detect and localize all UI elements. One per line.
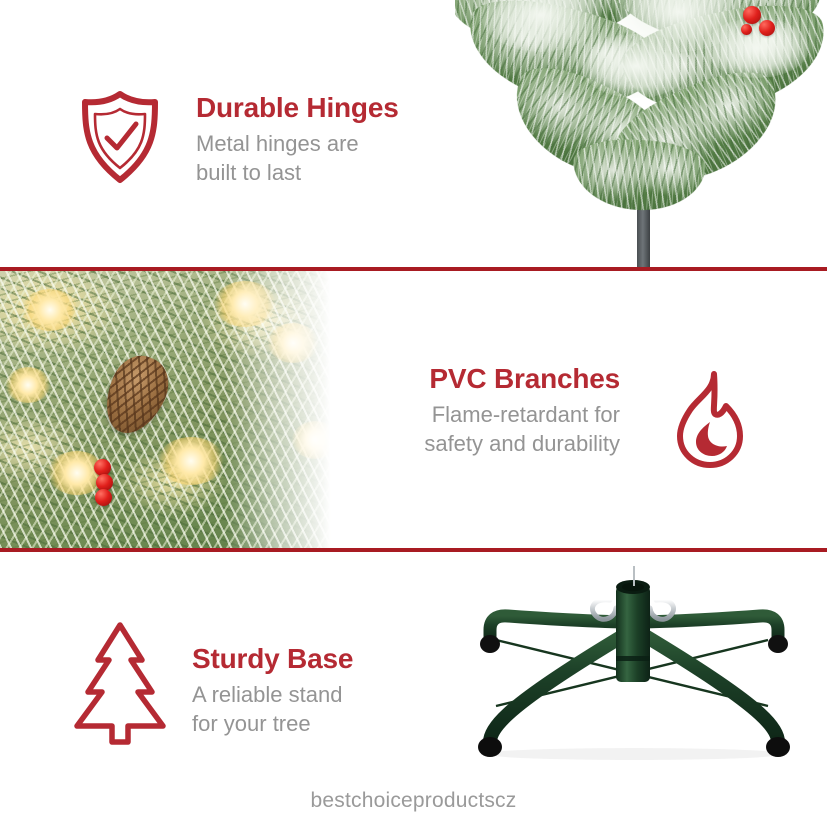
feature-description: Flame-retardant for safety and durabilit…: [424, 400, 620, 458]
lit-flocked-branches-photo: [0, 271, 345, 548]
feature-text-sturdy-base: Sturdy Base A reliable stand for your tr…: [192, 643, 353, 738]
pinecone: [94, 347, 178, 443]
stand-leg: [490, 634, 626, 742]
snow-frost: [705, 18, 809, 78]
red-berry: [741, 24, 752, 35]
stand-leg: [642, 634, 778, 742]
tree-light: [22, 289, 78, 331]
feature-description: A reliable stand for your tree: [192, 680, 353, 738]
stand-foot: [480, 635, 500, 653]
product-feature-infographic: Durable Hinges Metal hinges are built to…: [0, 0, 827, 827]
brand-footer: bestchoiceproductscz: [0, 789, 827, 813]
stand-center-post: [616, 586, 650, 682]
flame-icon: [664, 368, 756, 470]
red-berry: [743, 6, 761, 24]
feature-panel-durable-hinges: Durable Hinges Metal hinges are built to…: [0, 0, 827, 267]
flocked-tree-top-photo: [455, 0, 827, 267]
pine-tree-icon: [66, 618, 174, 750]
tree-light: [158, 437, 224, 485]
feature-description: Metal hinges are built to last: [196, 129, 399, 187]
feature-title: PVC Branches: [424, 363, 620, 395]
feature-text-durable-hinges: Durable Hinges Metal hinges are built to…: [196, 92, 399, 187]
tree-stand-photo: [438, 556, 827, 761]
tree-light: [6, 367, 50, 403]
branch-tier: [571, 137, 706, 214]
stand-foot: [768, 635, 788, 653]
red-berry: [759, 20, 775, 36]
feature-text-pvc-branches: PVC Branches Flame-retardant for safety …: [424, 363, 620, 458]
feature-title: Durable Hinges: [196, 92, 399, 124]
snow-frost: [581, 34, 691, 98]
photo-edge-fade: [225, 271, 345, 548]
feature-title: Sturdy Base: [192, 643, 353, 675]
shield-check-icon: [74, 88, 166, 186]
